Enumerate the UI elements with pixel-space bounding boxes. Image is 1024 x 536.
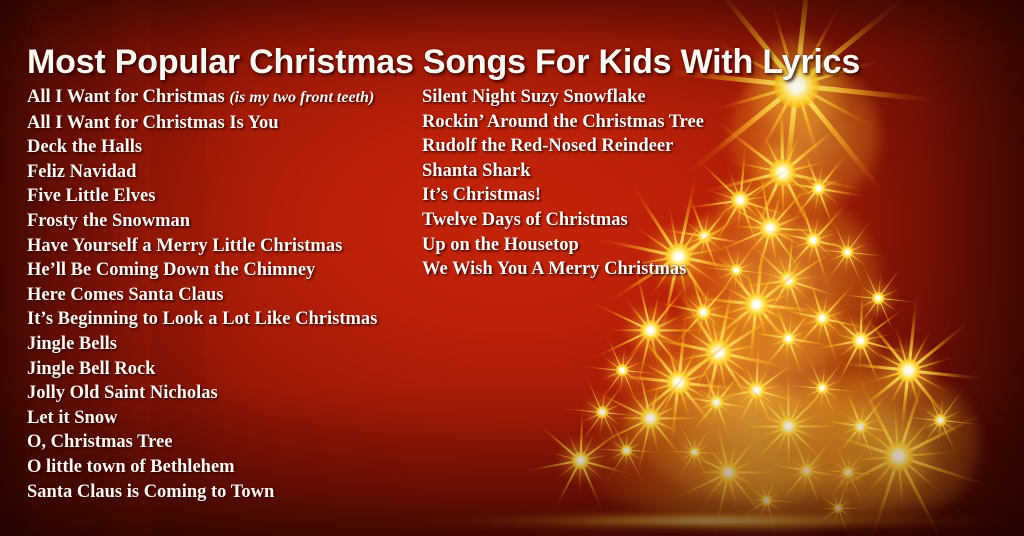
song-title: Jingle Bell Rock: [27, 359, 155, 379]
song-list-item: All I Want for Christmas Is You: [27, 111, 377, 136]
song-title: It’s Christmas!: [422, 185, 541, 205]
song-list-item: Jingle Bells: [27, 332, 377, 357]
song-title: Rockin’ Around the Christmas Tree: [422, 112, 704, 132]
song-title: Feliz Navidad: [27, 162, 136, 182]
song-title: Santa Claus is Coming to Town: [27, 482, 274, 502]
song-title: O little town of Bethlehem: [27, 457, 235, 477]
page-title: Most Popular Christmas Songs For Kids Wi…: [27, 42, 860, 82]
song-list-item: It’s Beginning to Look a Lot Like Christ…: [27, 307, 377, 332]
song-list-item: All I Want for Christmas (is my two fron…: [27, 85, 377, 111]
song-list-item: Shanta Shark: [422, 159, 704, 184]
song-title: All I Want for Christmas: [27, 87, 229, 107]
song-title: Rudolf the Red-Nosed Reindeer: [422, 136, 673, 156]
song-title: Deck the Halls: [27, 137, 142, 157]
song-list-item: Silent Night Suzy Snowflake: [422, 85, 704, 110]
song-title: Five Little Elves: [27, 186, 155, 206]
song-list-right-column: Silent Night Suzy SnowflakeRockin’ Aroun…: [422, 85, 704, 282]
song-title: Have Yourself a Merry Little Christmas: [27, 236, 342, 256]
song-list-item: Twelve Days of Christmas: [422, 208, 704, 233]
song-title: Shanta Shark: [422, 161, 530, 181]
song-list-item: Rockin’ Around the Christmas Tree: [422, 110, 704, 135]
song-list-item: Five Little Elves: [27, 184, 377, 209]
song-list-item: It’s Christmas!: [422, 183, 704, 208]
song-list-item: Have Yourself a Merry Little Christmas: [27, 234, 377, 259]
song-list-item: Frosty the Snowman: [27, 209, 377, 234]
song-title: It’s Beginning to Look a Lot Like Christ…: [27, 309, 377, 329]
song-list-item: Feliz Navidad: [27, 160, 377, 185]
song-title-parenthetical: (is my two front teeth): [229, 89, 374, 106]
song-title: All I Want for Christmas Is You: [27, 113, 279, 133]
song-title: We Wish You A Merry Christmas: [422, 259, 686, 279]
song-list-item: Let it Snow: [27, 406, 377, 431]
song-title: Let it Snow: [27, 408, 117, 428]
song-list-item: Santa Claus is Coming to Town: [27, 480, 377, 505]
song-list-left-column: All I Want for Christmas (is my two fron…: [27, 85, 377, 504]
song-list-item: O little town of Bethlehem: [27, 455, 377, 480]
song-list-item: Rudolf the Red-Nosed Reindeer: [422, 134, 704, 159]
song-list-item: He’ll Be Coming Down the Chimney: [27, 258, 377, 283]
song-title: Twelve Days of Christmas: [422, 210, 628, 230]
song-list-item: Up on the Housetop: [422, 233, 704, 258]
song-title: Up on the Housetop: [422, 235, 579, 255]
song-title: Jingle Bells: [27, 334, 117, 354]
song-title: He’ll Be Coming Down the Chimney: [27, 260, 315, 280]
song-title: Here Comes Santa Claus: [27, 285, 223, 305]
song-list-item: Jingle Bell Rock: [27, 357, 377, 382]
song-title: O, Christmas Tree: [27, 432, 172, 452]
song-list-item: Deck the Halls: [27, 135, 377, 160]
song-title: Jolly Old Saint Nicholas: [27, 383, 218, 403]
song-title: Frosty the Snowman: [27, 211, 190, 231]
song-title: Silent Night Suzy Snowflake: [422, 87, 646, 107]
song-list-item: Here Comes Santa Claus: [27, 283, 377, 308]
song-list-item: O, Christmas Tree: [27, 430, 377, 455]
song-list-item: We Wish You A Merry Christmas: [422, 257, 704, 282]
christmas-songs-poster: Most Popular Christmas Songs For Kids Wi…: [0, 0, 1024, 536]
song-list-item: Jolly Old Saint Nicholas: [27, 381, 377, 406]
